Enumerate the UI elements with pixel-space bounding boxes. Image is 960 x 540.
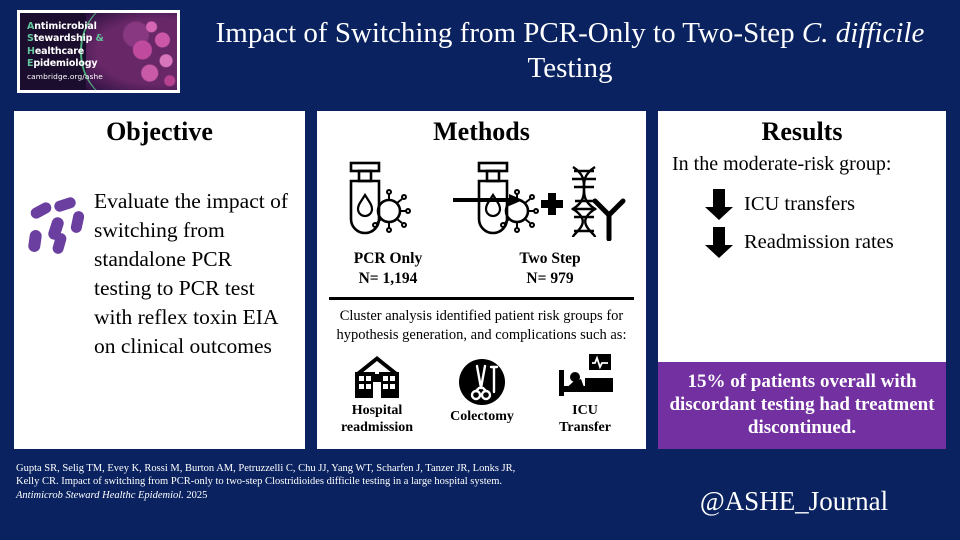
logo-line-2: Stewardship &	[27, 33, 122, 45]
logo-line-4: Epidemiology	[27, 58, 122, 70]
title-part-2: Testing	[528, 52, 613, 84]
complication-hospital-label: Hospital readmission	[325, 402, 429, 436]
dna-antibody-icon	[565, 163, 627, 241]
journal-logo: Antimicrobial Stewardship & Healthcare E…	[17, 10, 180, 93]
icu-label-line1: ICU	[572, 403, 598, 418]
complication-hospital-readmission: Hospital readmission	[325, 350, 429, 436]
complication-colectomy-label: Colectomy	[430, 408, 534, 425]
objective-body: Evaluate the impact of switching from st…	[14, 153, 305, 421]
poster-root: Antimicrobial Stewardship & Healthcare E…	[0, 0, 960, 540]
methods-subtext: Cluster analysis identified patient risk…	[331, 307, 632, 344]
methods-heading: Methods	[317, 117, 646, 147]
results-outcome-label: ICU transfers	[744, 192, 855, 216]
methods-arm-labels: PCR Only N= 1,194 Two Step N= 979	[317, 249, 646, 295]
tube-pcr-icon	[341, 161, 383, 237]
bacteria-icon	[28, 199, 90, 253]
poster-title: Impact of Switching from PCR-Only to Two…	[196, 16, 944, 86]
plus-icon	[541, 193, 563, 215]
title-part-1: Impact of Switching from PCR-Only to Two…	[216, 17, 802, 49]
hospital-icon	[325, 350, 429, 400]
results-outcome-label: Readmission rates	[744, 230, 894, 254]
complication-colectomy: Colectomy	[430, 356, 534, 425]
logo-line-1: Antimicrobial	[27, 21, 122, 33]
objective-panel: Objective Evaluate the impact of switchi…	[14, 111, 305, 449]
methods-divider	[329, 297, 634, 300]
results-callout: 15% of patients overall with discordant …	[658, 362, 946, 449]
complication-icu-label: ICU Transfer	[533, 402, 637, 436]
down-arrow-icon	[702, 225, 736, 259]
methods-arm-left-label: PCR Only	[323, 249, 453, 269]
results-heading: Results	[658, 117, 946, 147]
icu-bed-icon	[533, 350, 637, 400]
results-outcome-row: Readmission rates	[658, 223, 946, 261]
social-handle: @ASHE_Journal	[644, 485, 944, 517]
citation-journal: Antimicrob Steward Healthc Epidemiol.	[16, 490, 184, 501]
hospital-label-line2: readmission	[341, 420, 413, 435]
methods-arm-right-n: N= 979	[485, 269, 615, 289]
results-intro: In the moderate-risk group:	[672, 151, 932, 177]
tube-twostep-icon	[469, 161, 511, 237]
logo-url: cambridge.org/ashe	[27, 72, 103, 81]
methods-arm-right-label: Two Step	[485, 249, 615, 269]
citation: Gupta SR, Selig TM, Evey K, Rossi M, Bur…	[16, 462, 516, 502]
icu-label-line2: Transfer	[559, 420, 611, 435]
results-panel: Results In the moderate-risk group: ICU …	[658, 111, 946, 449]
citation-authors: Gupta SR, Selig TM, Evey K, Rossi M, Bur…	[16, 463, 515, 487]
logo-title-text: Antimicrobial Stewardship & Healthcare E…	[27, 21, 122, 71]
methods-flow-diagram	[317, 149, 646, 249]
methods-panel: Methods	[317, 111, 646, 449]
methods-complication-list: Hospital readmission	[317, 350, 646, 442]
methods-arm-left-n: N= 1,194	[323, 269, 453, 289]
panel-row: Objective Evaluate the impact of switchi…	[14, 111, 946, 449]
complication-icu-transfer: ICU Transfer	[533, 350, 637, 436]
objective-heading: Objective	[14, 117, 305, 147]
logo-line-3: Healthcare	[27, 46, 122, 58]
results-outcome-list: ICU transfers Readmission rates	[658, 185, 946, 261]
methods-arm-right: Two Step N= 979	[485, 249, 615, 289]
results-outcome-row: ICU transfers	[658, 185, 946, 223]
citation-year: 2025	[184, 490, 208, 501]
methods-arm-left: PCR Only N= 1,194	[323, 249, 453, 289]
objective-text: Evaluate the impact of switching from st…	[94, 187, 290, 361]
logo-inner: Antimicrobial Stewardship & Healthcare E…	[20, 13, 177, 90]
surgery-scissors-icon	[430, 356, 534, 406]
down-arrow-icon	[702, 187, 736, 221]
hospital-label-line1: Hospital	[352, 403, 403, 418]
title-italic-species: C. difficile	[802, 17, 924, 49]
